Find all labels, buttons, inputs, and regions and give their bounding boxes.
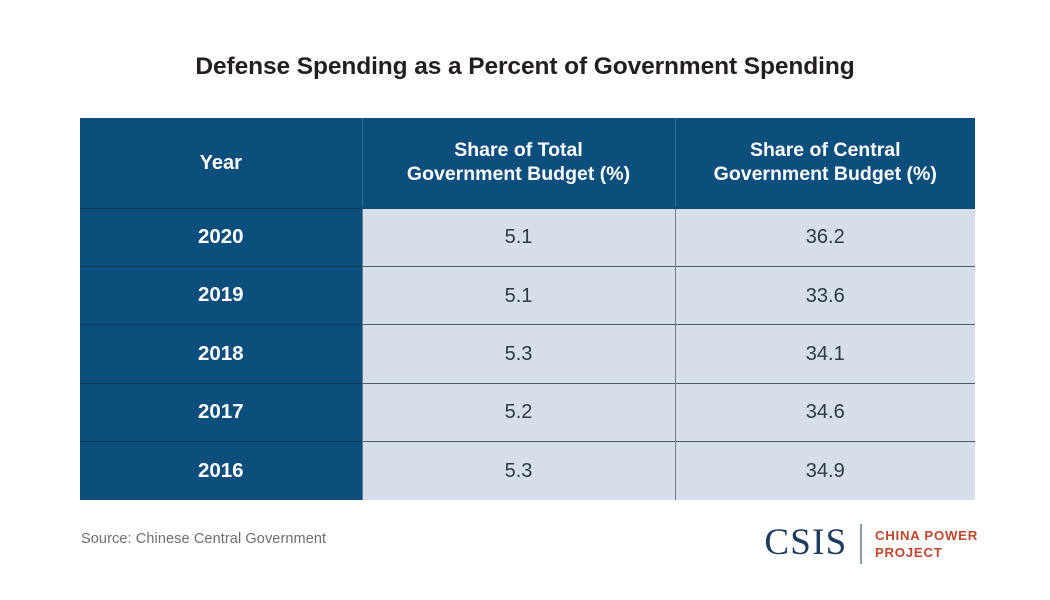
column-header-total-share-line2: Government Budget (%) (407, 163, 630, 185)
cell-year: 2018 (80, 325, 362, 383)
data-table-container: Year Share of Total Government Budget (%… (80, 118, 975, 500)
cell-central-share: 36.2 (675, 208, 975, 266)
page-title: Defense Spending as a Percent of Governm… (0, 52, 1050, 81)
cell-total-share: 5.1 (362, 208, 675, 266)
table-body: 2020 5.1 36.2 2019 5.1 33.6 2018 5.3 34.… (80, 208, 975, 500)
infographic-page: Defense Spending as a Percent of Governm… (0, 0, 1050, 600)
cell-year: 2017 (80, 383, 362, 441)
column-header-total-share-line1: Share of Total (454, 139, 583, 161)
table-row: 2016 5.3 34.9 (80, 442, 975, 500)
cell-total-share: 5.2 (362, 383, 675, 441)
cell-total-share: 5.3 (362, 442, 675, 500)
china-power-project-line1: CHINA POWER (875, 527, 978, 544)
table-row: 2019 5.1 33.6 (80, 266, 975, 324)
cell-year: 2019 (80, 266, 362, 324)
column-header-central-share-line1: Share of Central (750, 139, 901, 161)
cell-central-share: 34.9 (675, 442, 975, 500)
cell-year: 2020 (80, 208, 362, 266)
table-header: Year Share of Total Government Budget (%… (80, 118, 975, 208)
column-header-central-share: Share of Central Government Budget (%) (675, 118, 975, 208)
cell-central-share: 34.6 (675, 383, 975, 441)
spending-table: Year Share of Total Government Budget (%… (80, 118, 975, 500)
cell-year: 2016 (80, 442, 362, 500)
csis-china-power-logo: CSIS CHINA POWER PROJECT (764, 521, 978, 567)
table-header-row: Year Share of Total Government Budget (%… (80, 118, 975, 208)
column-header-year: Year (80, 118, 362, 208)
china-power-project-wordmark: CHINA POWER PROJECT (875, 527, 978, 562)
logo-divider (860, 524, 862, 564)
cell-total-share: 5.3 (362, 325, 675, 383)
column-header-central-share-line2: Government Budget (%) (714, 163, 937, 185)
table-row: 2018 5.3 34.1 (80, 325, 975, 383)
cell-total-share: 5.1 (362, 266, 675, 324)
cell-central-share: 33.6 (675, 266, 975, 324)
table-row: 2020 5.1 36.2 (80, 208, 975, 266)
source-note: Source: Chinese Central Government (81, 531, 326, 547)
table-row: 2017 5.2 34.6 (80, 383, 975, 441)
cell-central-share: 34.1 (675, 325, 975, 383)
csis-wordmark: CSIS (764, 524, 860, 564)
china-power-project-line2: PROJECT (875, 544, 978, 561)
column-header-total-share: Share of Total Government Budget (%) (362, 118, 675, 208)
